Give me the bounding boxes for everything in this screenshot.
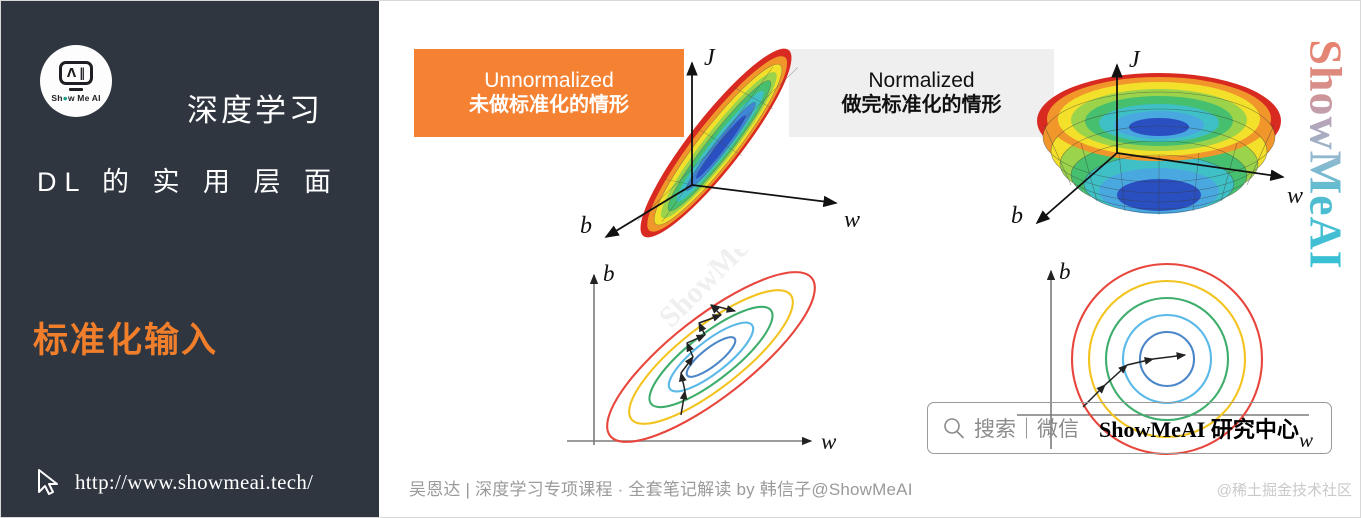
sidebar: Λ‖ Sh●w Me AI 深度学习 DL 的 实 用 层 面 标准化输入 ht… [1, 1, 379, 518]
showmeai-robot-logo: Λ‖ Sh●w Me AI [40, 45, 112, 117]
axis-label-w: w [821, 429, 837, 454]
axis-w [692, 185, 836, 203]
gradient-descent-path [1083, 355, 1185, 407]
axis-label-b: b [603, 261, 615, 286]
chart-unnormalized-contour: ShowMeAI b w [559, 249, 869, 471]
axis-label-j: J [1129, 47, 1141, 73]
search-icon [942, 416, 966, 440]
axis-label-b: b [580, 213, 592, 239]
chart-normalized-3d-surface: J w b [999, 25, 1319, 255]
robot-face-icon: Λ‖ [59, 61, 93, 85]
site-url-text: http://www.showmeai.tech/ [75, 470, 313, 495]
content-panel: Unnormalized 未做标准化的情形 Normalized 做完标准化的情… [379, 1, 1361, 518]
axis-label-b: b [1011, 203, 1023, 229]
brand-vertical-showmeai: ShowMeAI [1296, 23, 1356, 285]
cursor-pointer-icon [35, 467, 63, 497]
bowl-body [1037, 73, 1281, 215]
topic-title: 标准化输入 [33, 323, 218, 358]
axis-label-w: w [844, 207, 860, 233]
watermark-text: ShowMeAI [653, 249, 779, 334]
wechat-search-bar[interactable]: 搜索｜微信 ShowMeAI 研究中心 [927, 402, 1332, 454]
search-result-brand[interactable]: ShowMeAI 研究中心 [1099, 412, 1299, 444]
slide-root: Λ‖ Sh●w Me AI 深度学习 DL 的 实 用 层 面 标准化输入 ht… [0, 0, 1361, 518]
section-title: DL 的 实 用 层 面 [37, 169, 339, 196]
chart-unnormalized-3d-surface: J w b [564, 25, 894, 255]
robot-neck-icon [69, 88, 83, 91]
search-input-placeholder[interactable]: 搜索｜微信 [974, 413, 1079, 443]
site-url-row[interactable]: http://www.showmeai.tech/ [35, 467, 313, 497]
footer-caption: 吴恩达 | 深度学习专项课程 · 全套笔记解读 by 韩信子@ShowMeAI [409, 475, 913, 500]
axis-label-j: J [704, 45, 716, 71]
logo-brand-text: Sh●w Me AI [51, 93, 100, 103]
brand-vertical-text: ShowMeAI [1300, 39, 1353, 269]
page-title: 深度学习 [187, 95, 323, 126]
corner-watermark: @稀土掘金技术社区 [1217, 479, 1352, 500]
axis-label-b: b [1059, 259, 1071, 284]
